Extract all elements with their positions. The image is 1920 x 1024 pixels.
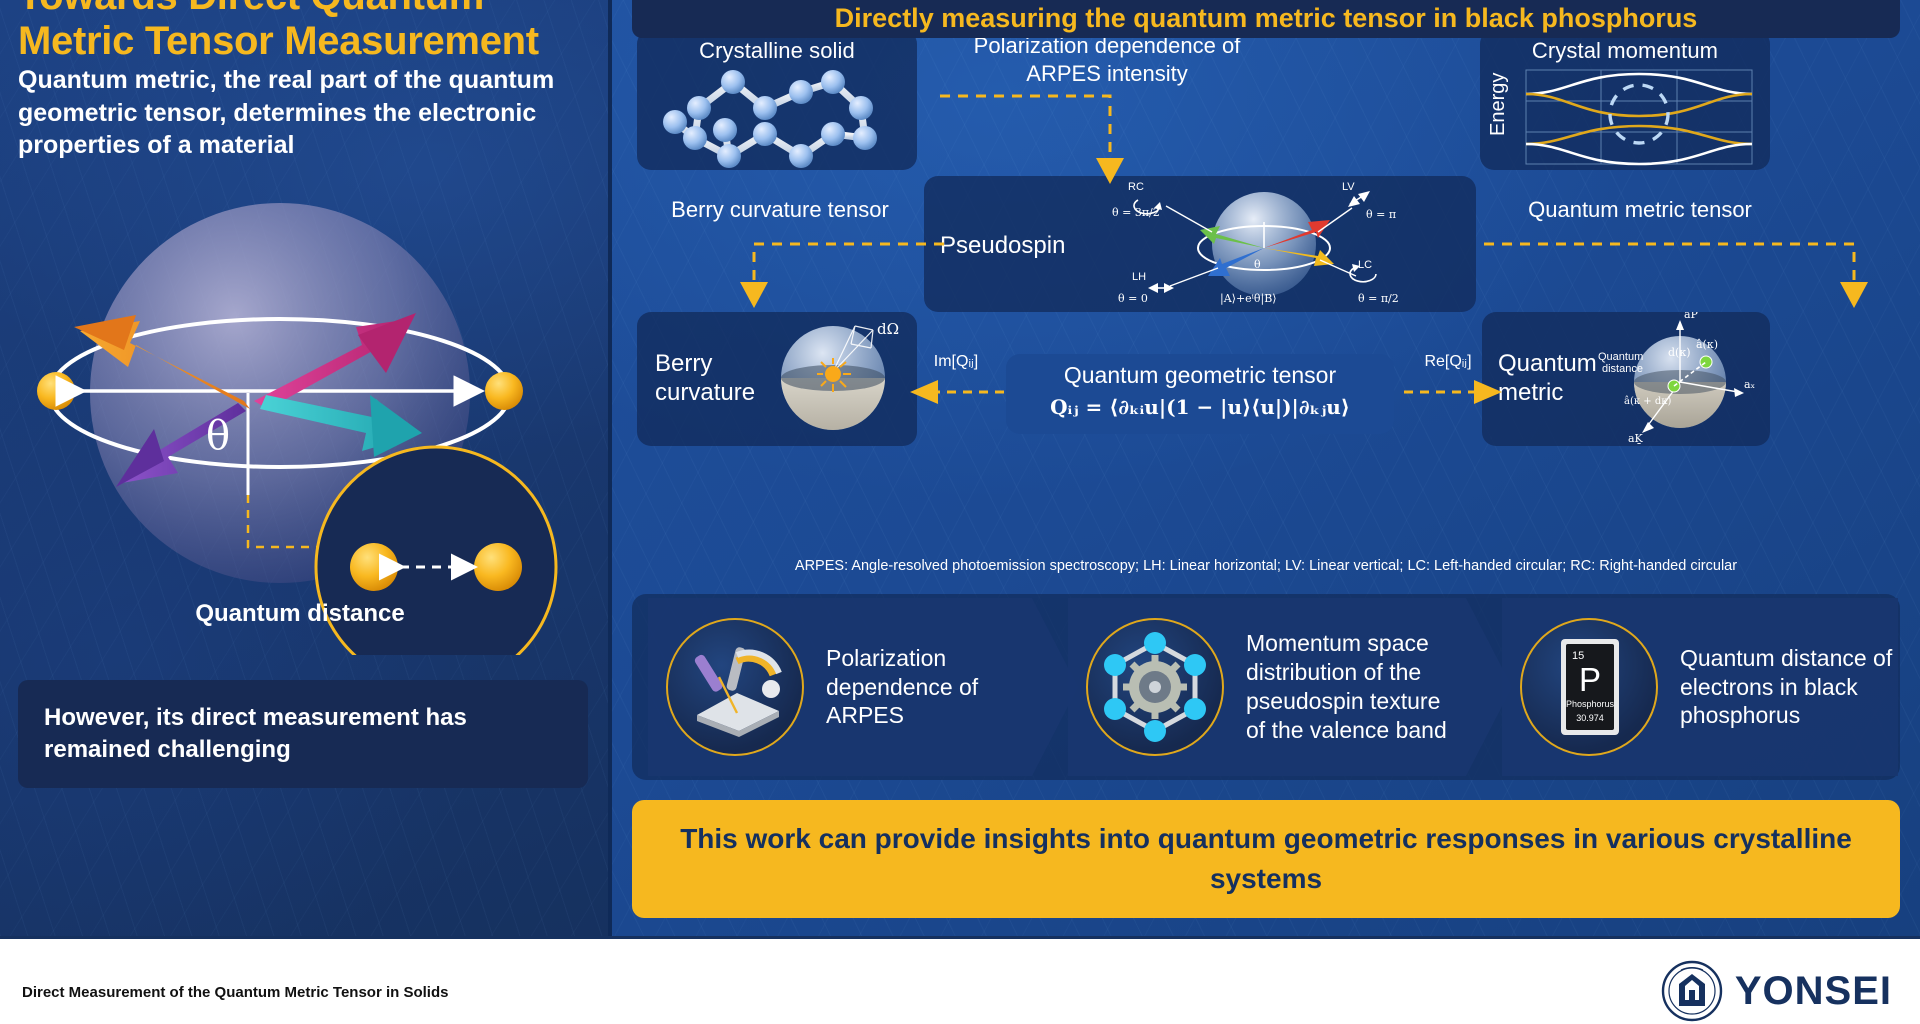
band-lower-white (1526, 144, 1752, 164)
pseudospin-theta-symbol: θ (1254, 258, 1261, 271)
chevron-2-label: Momentum space distribution of the pseud… (1246, 629, 1461, 745)
abbreviations-footnote: ARPES: Angle-resolved photoemission spec… (632, 558, 1900, 574)
card-quantum-geometric-tensor: Quantum geometric tensor Qᵢⱼ = ⟨∂ₖᵢu|(1 … (1006, 354, 1394, 434)
label-theta-pi2: θ = π/2 (1358, 292, 1399, 305)
card-crystalline-solid: Crystalline solid (637, 30, 917, 170)
quantum-distance-caption: Quantum distance (110, 600, 490, 628)
label-theta-3pi2: θ = 3π/2 (1112, 206, 1160, 219)
label-a-hat-kappa-dk: â(κ + dκ) (1624, 396, 1672, 407)
label-d-kappa: d(κ) (1668, 346, 1691, 359)
page-subtitle: Quantum metric, the real part of the qua… (18, 64, 578, 162)
left-panel: Towards Direct Quantum Metric Tensor Mea… (0, 0, 612, 936)
arrow-polarization-to-pseudospin (932, 84, 1292, 190)
band-upper-white (1526, 74, 1752, 94)
card-berry-curvature: Berry curvature (637, 312, 917, 446)
arrow-to-quantum-metric (1472, 228, 1892, 314)
label-quantum-distance-small: Quantum (1598, 351, 1643, 363)
inset-node-left (350, 543, 398, 591)
card-berry-curvature-title: Berry curvature (655, 350, 763, 408)
label-d-omega: dΩ (877, 320, 899, 338)
right-panel: Directly measuring the quantum metric te… (612, 0, 1920, 936)
right-header-text: Directly measuring the quantum metric te… (835, 3, 1698, 34)
label-lv: LV (1342, 181, 1355, 193)
label-quantum-metric-tensor: Quantum metric tensor (1490, 196, 1790, 224)
label-theta-pi: θ = π (1366, 208, 1396, 221)
label-axis-ax: aₓ (1744, 378, 1756, 391)
chevron-item-2: Momentum space distribution of the pseud… (1068, 598, 1512, 776)
bloch-left-node (37, 372, 75, 410)
conclusion-text: This work can provide insights into quan… (680, 819, 1852, 899)
label-im-q: Im[Qᵢⱼ] (912, 352, 1000, 372)
bloch-right-node (485, 372, 523, 410)
arpes-apparatus-icon (666, 618, 804, 756)
yonsei-logo: YONSEI (1661, 960, 1892, 1022)
card-pseudospin: Pseudospin (924, 176, 1476, 312)
page-title: Towards Direct Quantum Metric Tensor Mea… (18, 0, 588, 64)
label-quantum-distance-small2: distance (1602, 363, 1643, 375)
infographic-root: Towards Direct Quantum Metric Tensor Mea… (0, 0, 1920, 1024)
chevron-1-label: Polarization dependence of ARPES (826, 644, 1041, 731)
footer: Direct Measurement of the Quantum Metric… (0, 936, 1920, 1024)
label-axis-ay: aḴ (1628, 432, 1644, 445)
chevron-item-1: Polarization dependence of ARPES (648, 598, 1078, 776)
element-mass: 30.974 (1576, 713, 1604, 723)
theta-label: θ (206, 413, 230, 459)
right-header-banner: Directly measuring the quantum metric te… (632, 0, 1900, 38)
panel-divider (608, 0, 612, 936)
card-crystal-momentum: Crystal momentum Energy (1480, 30, 1770, 170)
qgt-formula: Qᵢⱼ = ⟨∂ₖᵢu|(1 − |u⟩⟨u|)|∂ₖⱼu⟩ (1006, 389, 1394, 419)
label-polarization-dependence: Polarization dependence of ARPES intensi… (942, 32, 1272, 87)
yonsei-crest-icon (1661, 960, 1723, 1022)
card-quantum-metric-title: Quantum metric (1498, 350, 1602, 408)
hexagon-gear-icon (1086, 618, 1224, 756)
bloch-sphere-illustration: θ (18, 195, 578, 655)
band-structure-plot: Energy (1480, 64, 1770, 168)
label-lc: LC (1358, 259, 1372, 271)
phosphorus-element-icon: 15 P Phosphorus 30.974 (1520, 618, 1658, 756)
conclusion-banner: This work can provide insights into quan… (632, 800, 1900, 918)
qgt-title: Quantum geometric tensor (1006, 354, 1394, 389)
yonsei-wordmark: YONSEI (1735, 969, 1892, 1014)
footer-paper-title: Direct Measurement of the Quantum Metric… (22, 984, 448, 1001)
quantum-metric-sphere-icon: aṔ aₓ aḴ â(κ) d(κ) â(κ + dκ) Quantum dis… (1588, 312, 1768, 446)
challenge-note: However, its direct measurement has rema… (18, 680, 588, 788)
crystal-lattice-icon (637, 64, 917, 168)
label-theta-0: θ = 0 (1118, 292, 1148, 305)
berry-curvature-sphere-icon: dΩ (763, 312, 915, 446)
arrow-re-q-to-metric (1398, 378, 1508, 406)
chevron-3-label: Quantum distance of electrons in black p… (1680, 644, 1895, 731)
label-a-hat-kappa: â(κ) (1696, 338, 1718, 351)
footer-divider (0, 936, 1920, 939)
label-re-q: Re[Qᵢⱼ] (1402, 352, 1494, 372)
band-upper-orange (1526, 94, 1752, 116)
label-superposition-state: |A⟩+eⁱθ|B⟩ (1220, 292, 1277, 306)
element-name: Phosphorus (1566, 699, 1615, 709)
element-symbol: P (1579, 661, 1601, 698)
arrow-to-berry-curvature (632, 228, 962, 314)
arrow-im-q-to-berry (904, 378, 1010, 406)
card-quantum-metric: Quantum metric (1482, 312, 1770, 446)
energy-axis-label: Energy (1487, 73, 1509, 136)
label-berry-curvature-tensor: Berry curvature tensor (640, 196, 920, 224)
pseudospin-bloch-sphere: θ RC (1104, 176, 1434, 312)
chevron-item-3: 15 P Phosphorus 30.974 Quantum distance … (1502, 598, 1898, 776)
inset-node-right (474, 543, 522, 591)
label-lh: LH (1132, 271, 1146, 283)
